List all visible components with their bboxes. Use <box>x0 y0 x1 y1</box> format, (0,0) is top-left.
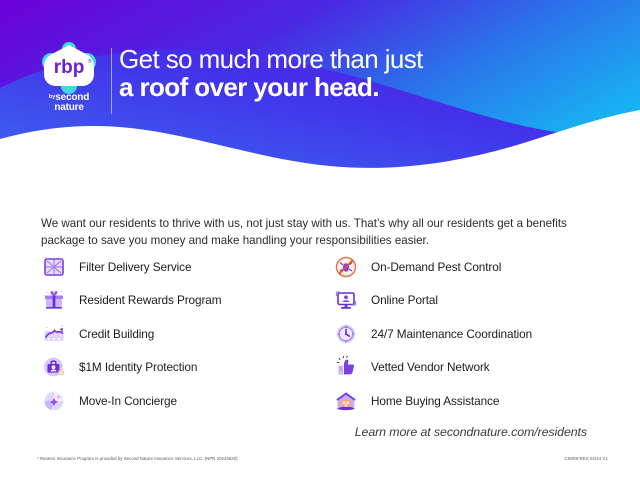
monitor-portal-icon <box>333 287 359 313</box>
logo-nature-label: nature <box>54 102 83 113</box>
footnote-disclaimer: * Renters Insurance Program is provided … <box>37 456 238 461</box>
identity-briefcase-icon <box>41 354 67 380</box>
document-code: CS008-RES 02/24 V1 <box>564 456 608 461</box>
clock-icon <box>333 321 359 347</box>
rbp-wordmark: rbp <box>54 57 85 78</box>
rbp-logo-mark: rbp ® <box>38 42 100 94</box>
pest-control-icon <box>333 254 359 280</box>
benefit-label: Home Buying Assistance <box>371 394 499 408</box>
header-banner: rbp ® bysecond nature Get so much more t… <box>0 0 640 190</box>
benefit-label: 24/7 Maintenance Coordination <box>371 327 532 341</box>
benefit-item-resident-rewards-program: Resident Rewards Program <box>41 284 333 318</box>
benefits-grid: Filter Delivery Service On-Demand Pest C… <box>41 250 601 418</box>
intro-paragraph: We want our residents to thrive with us,… <box>41 215 589 249</box>
page-title: Get so much more than just a roof over y… <box>119 45 423 101</box>
benefit-label: On-Demand Pest Control <box>371 260 501 274</box>
rbp-trademark: ® <box>88 58 92 65</box>
logo-divider <box>111 48 112 114</box>
benefit-label: Resident Rewards Program <box>79 293 222 307</box>
air-filter-icon <box>41 254 67 280</box>
rbp-blob-icon: rbp ® <box>38 42 100 94</box>
house-icon <box>333 388 359 414</box>
second-nature-wordmark: bysecond nature <box>33 93 105 112</box>
benefit-item-maintenance-coordination: 24/7 Maintenance Coordination <box>333 317 601 351</box>
gift-icon <box>41 287 67 313</box>
learn-more-text: Learn more at secondnature.com/residents <box>355 425 587 439</box>
benefit-label: Credit Building <box>79 327 154 341</box>
benefit-item-credit-building: Credit Building <box>41 317 333 351</box>
benefit-item-move-in-concierge: Move-In Concierge <box>41 384 333 418</box>
benefit-label: Filter Delivery Service <box>79 260 191 274</box>
thumbs-up-icon <box>333 354 359 380</box>
benefit-item-identity-protection: $1M Identity Protection <box>41 351 333 385</box>
benefit-item-on-demand-pest-control: On-Demand Pest Control <box>333 250 601 284</box>
marketing-flyer: rbp ® bysecond nature Get so much more t… <box>0 0 640 480</box>
benefit-item-filter-delivery-service: Filter Delivery Service <box>41 250 333 284</box>
benefit-item-home-buying-assistance: Home Buying Assistance <box>333 384 601 418</box>
benefit-label: Online Portal <box>371 293 438 307</box>
benefit-label: $1M Identity Protection <box>79 360 197 374</box>
benefit-label: Move-In Concierge <box>79 394 177 408</box>
headline-line-1: Get so much more than just <box>119 45 423 73</box>
benefit-item-vetted-vendor-network: Vetted Vendor Network <box>333 351 601 385</box>
benefit-label: Vetted Vendor Network <box>371 360 490 374</box>
rbp-logo: rbp ® bysecond nature <box>33 42 105 114</box>
headline-line-2: a roof over your head. <box>119 73 423 101</box>
benefit-item-online-portal: Online Portal <box>333 284 601 318</box>
concierge-circle-icon <box>41 388 67 414</box>
credit-chart-icon <box>41 321 67 347</box>
